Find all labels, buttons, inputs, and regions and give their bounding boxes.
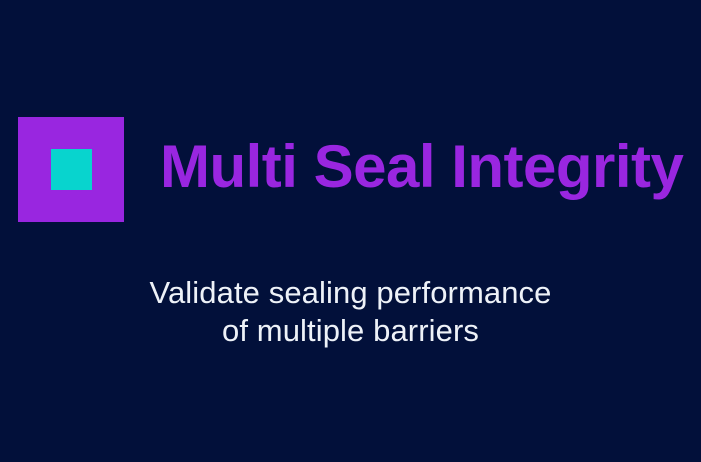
logo-square-icon (18, 117, 124, 222)
subtitle-block: Validate sealing performance of multiple… (0, 274, 701, 350)
subtitle-line-1: Validate sealing performance (0, 274, 701, 312)
brand-header: Multi Seal Integrity (18, 116, 683, 222)
subtitle-line-2: of multiple barriers (0, 312, 701, 350)
title-slide: Multi Seal Integrity Validate sealing pe… (0, 0, 701, 462)
logo-inner-square-icon (51, 149, 92, 190)
page-title: Multi Seal Integrity (160, 137, 683, 201)
